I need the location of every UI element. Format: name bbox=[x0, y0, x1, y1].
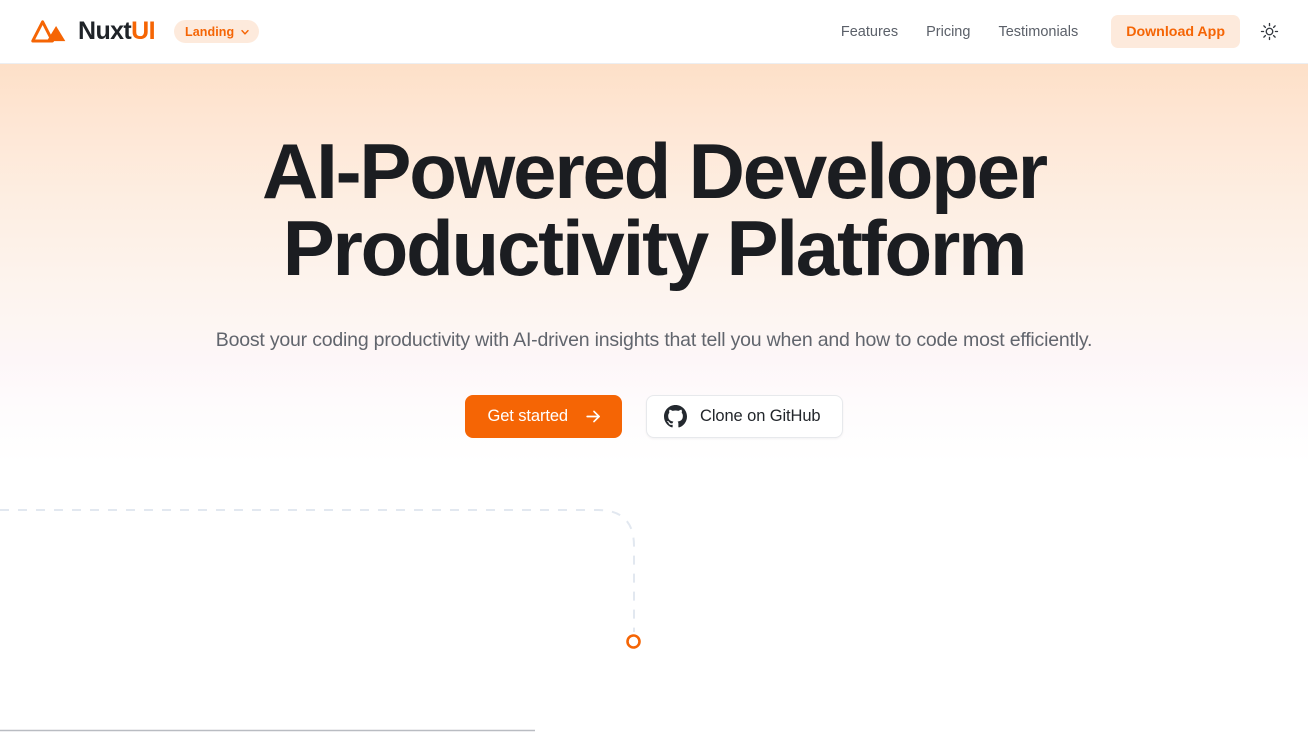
hero-section: AI-Powered Developer Productivity Platfo… bbox=[0, 64, 1308, 438]
landing-variant-label: Landing bbox=[185, 25, 234, 39]
hero-subtitle: Boost your coding productivity with AI-d… bbox=[0, 326, 1308, 354]
dashed-connector-curve bbox=[0, 510, 634, 632]
nav-link-features[interactable]: Features bbox=[827, 0, 912, 64]
github-icon bbox=[664, 405, 687, 428]
nuxt-mountain-icon bbox=[30, 19, 68, 45]
get-started-label: Get started bbox=[487, 407, 568, 426]
landing-page: NuxtUI Landing Features Pricing Testimon… bbox=[0, 0, 1308, 736]
landing-variant-badge[interactable]: Landing bbox=[174, 20, 259, 43]
brand-name: NuxtUI bbox=[78, 19, 155, 44]
clone-on-github-button[interactable]: Clone on GitHub bbox=[646, 395, 843, 438]
nav-link-pricing[interactable]: Pricing bbox=[912, 0, 984, 64]
hero-title: AI-Powered Developer Productivity Platfo… bbox=[0, 133, 1308, 287]
clone-on-github-label: Clone on GitHub bbox=[700, 407, 821, 426]
download-app-button[interactable]: Download App bbox=[1111, 15, 1240, 48]
brand-name-accent: UI bbox=[131, 17, 155, 45]
arrow-right-icon bbox=[584, 407, 603, 426]
brand-name-primary: Nuxt bbox=[78, 17, 131, 45]
get-started-button[interactable]: Get started bbox=[465, 395, 622, 438]
brand-logo-group[interactable]: NuxtUI Landing bbox=[30, 0, 259, 64]
orange-node-marker bbox=[628, 636, 640, 648]
main-navigation: Features Pricing Testimonials Download A… bbox=[827, 0, 1282, 64]
hero-title-line-2: Productivity Platform bbox=[0, 210, 1308, 287]
hero-title-line-1: AI-Powered Developer bbox=[0, 133, 1308, 210]
site-header: NuxtUI Landing Features Pricing Testimon… bbox=[0, 0, 1308, 64]
chevron-down-icon bbox=[240, 27, 250, 37]
nav-link-testimonials[interactable]: Testimonials bbox=[984, 0, 1092, 64]
sun-icon bbox=[1260, 22, 1279, 41]
theme-toggle-button[interactable] bbox=[1256, 19, 1282, 45]
hero-cta-row: Get started Clone on GitHub bbox=[0, 395, 1308, 438]
